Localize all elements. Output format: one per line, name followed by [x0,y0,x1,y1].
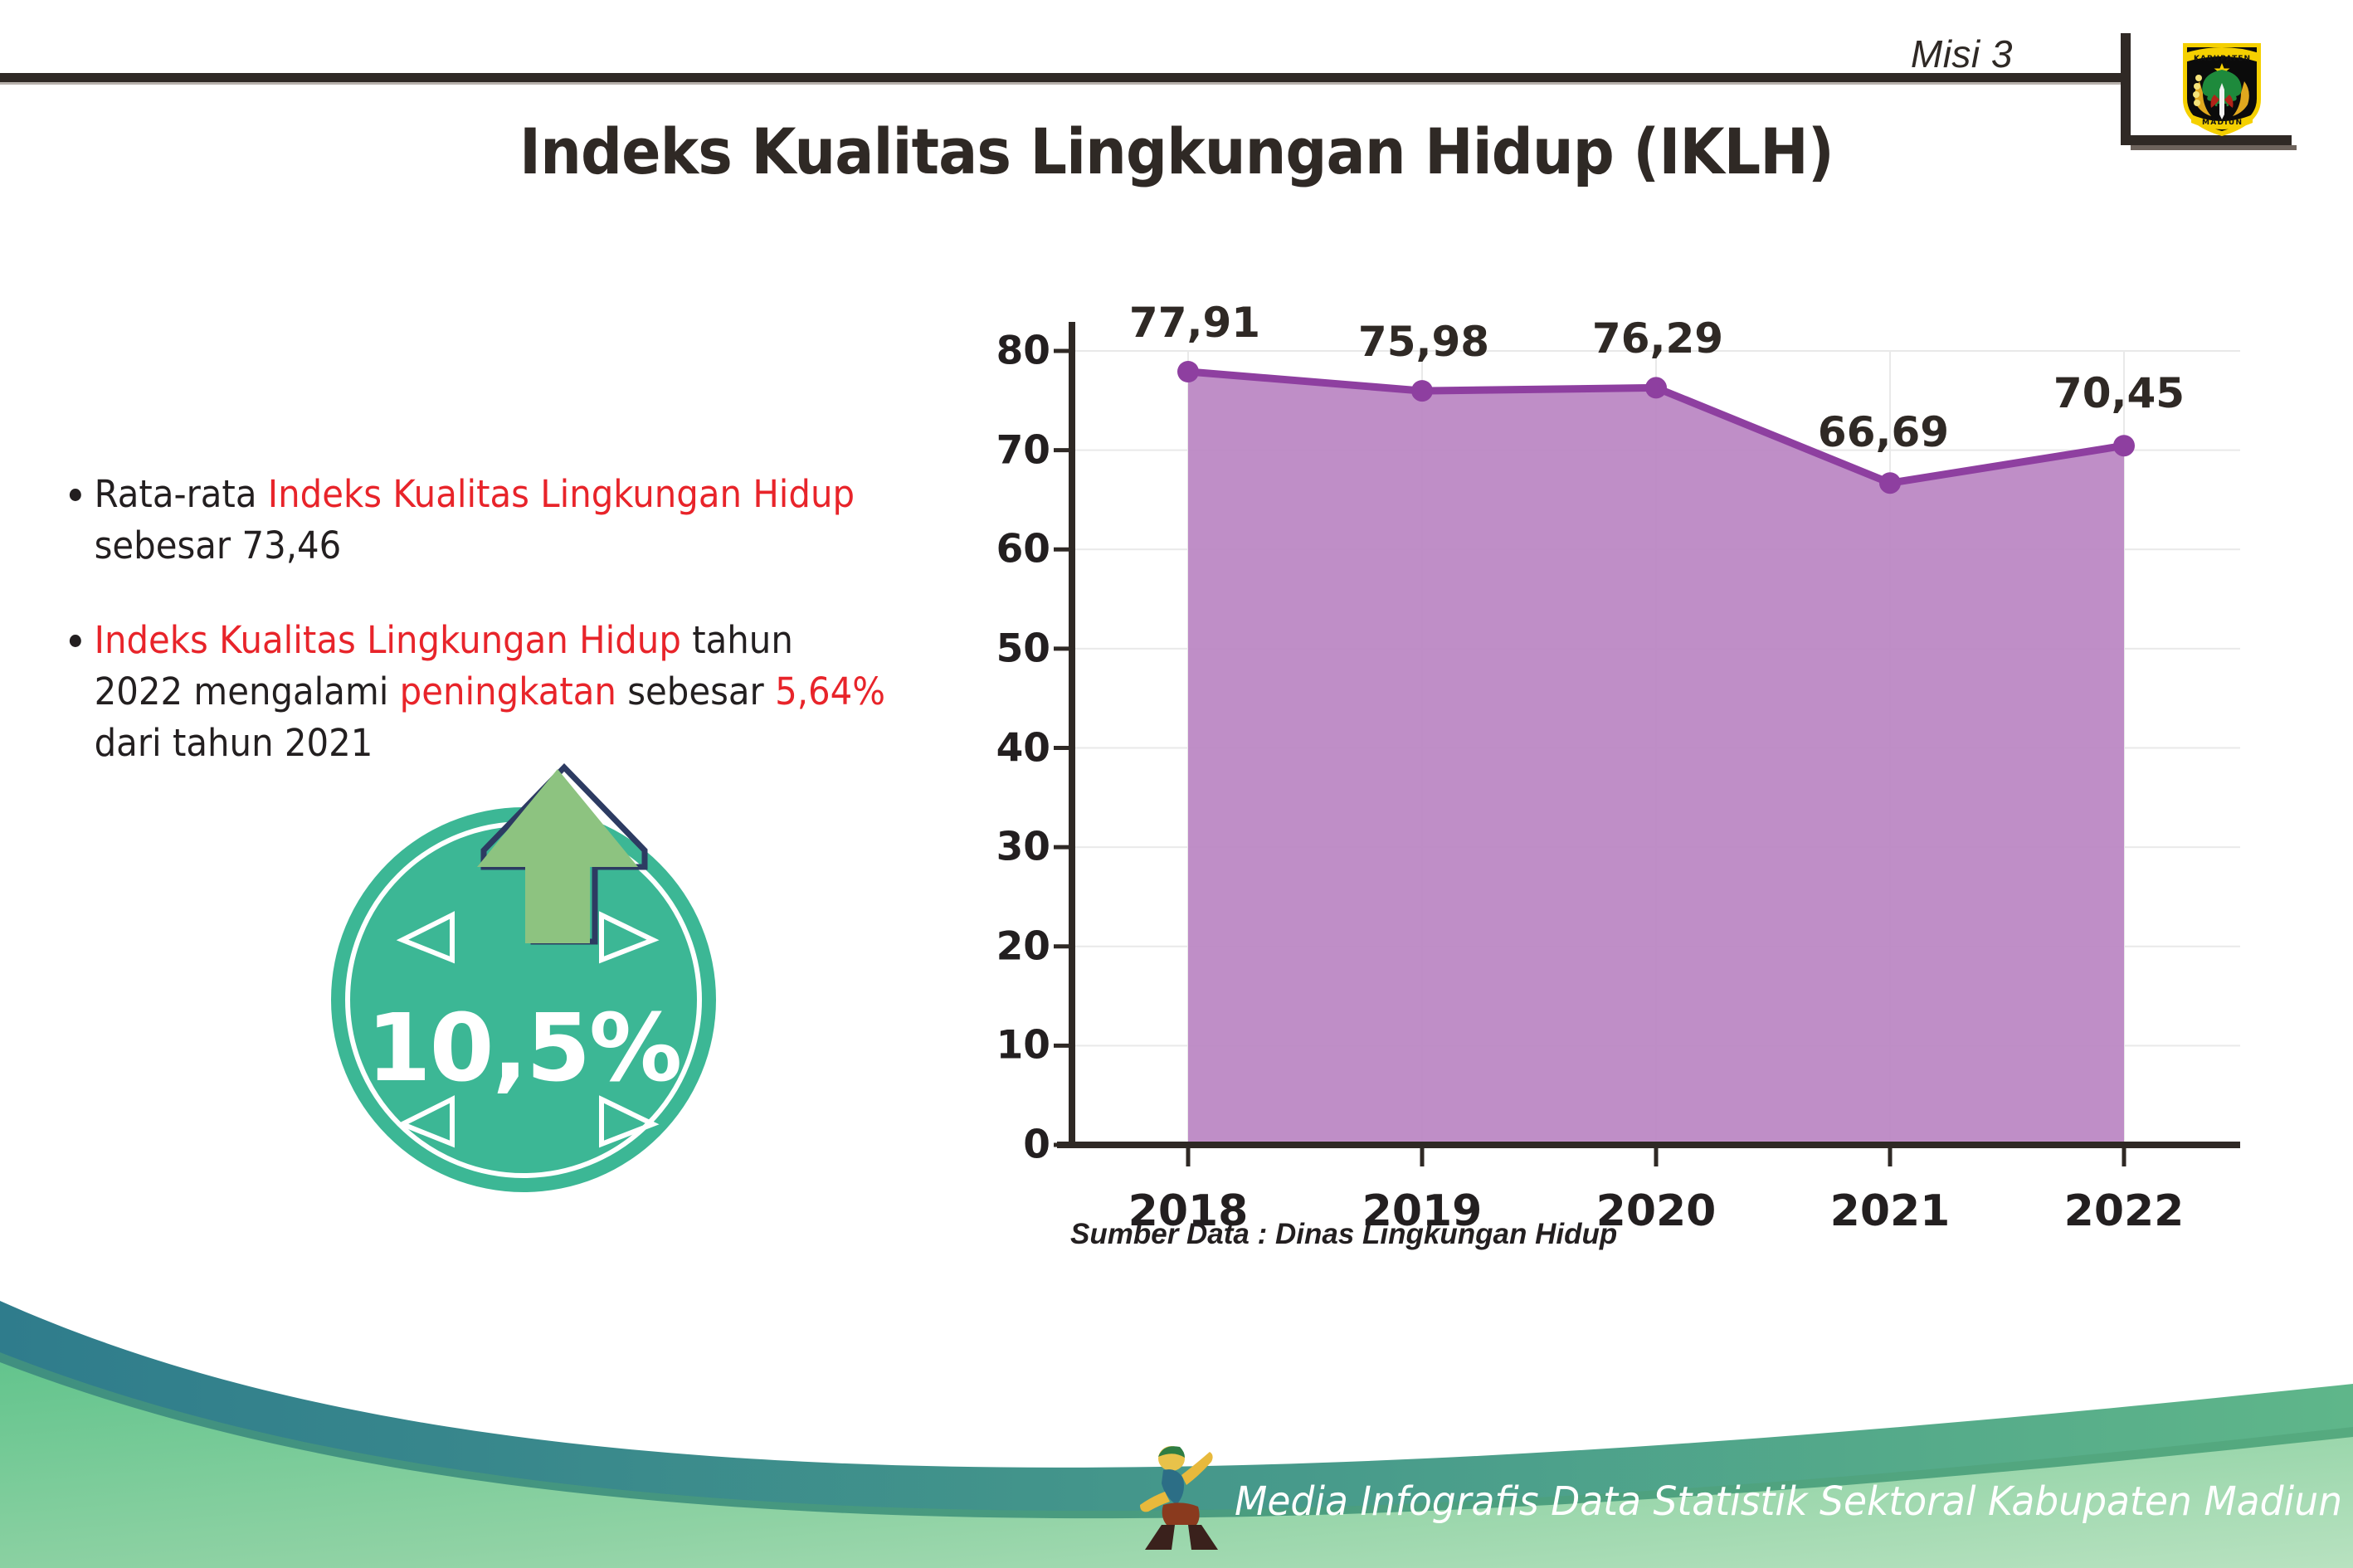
chart-source-note: Sumber Data : Dinas Lingkungan Hidup [1070,1218,1617,1251]
badge-value-text: 10,5% [328,995,719,1103]
chart-series [1177,361,2135,1145]
data-point-label: 75,98 [1358,318,1489,366]
y-axis-tick-label: 40 [959,725,1050,771]
footer-caption: Media Infografis Data Statistik Sektoral… [1235,1478,2353,1525]
data-point-label: 76,29 [1592,314,1723,363]
y-axis-tick-label: 30 [959,825,1050,870]
dancer-figure-icon [1138,1442,1225,1551]
bullet-highlight-text: 5,64% [775,670,885,713]
area-fill [1188,372,2124,1145]
data-point-marker [1177,361,1199,382]
mission-label: Misi 3 [1911,32,2013,76]
svg-text:KABUPATEN: KABUPATEN [2194,55,2250,63]
y-axis-tick-label: 20 [959,923,1050,969]
y-axis-tick-label: 60 [959,527,1050,572]
y-axis-tick-label: 50 [959,626,1050,671]
bullet-dot-icon [70,489,81,501]
page-title: Indeks Kualitas Lingkungan Hidup (IKLH) [94,114,2258,188]
bullet-text: sebesar [616,670,775,713]
growth-badge: 10,5% [328,751,743,1199]
data-point-marker [2113,435,2135,456]
chart-plot-area [954,307,2298,1286]
bullet-text: sebesar 73,46 [95,523,342,567]
bullet-highlight-text: peningkatan [400,670,616,713]
y-axis-tick-label: 10 [959,1023,1050,1069]
data-point-marker [1411,380,1433,402]
bullet-item: Rata-rata Indeks Kualitas Lingkungan Hid… [68,469,886,572]
data-point-label: 70,45 [2053,369,2185,417]
data-point-label: 77,91 [1129,299,1260,347]
x-axis-tick-label: 2022 [2064,1186,2185,1236]
data-point-marker [1645,377,1667,398]
data-point-marker [1879,472,1901,494]
infographic-slide: Misi 3 KABUPATEN MADIUN Indeks Kualitas … [0,0,2353,1568]
bullet-dot-icon [70,635,81,647]
iklh-area-chart: 01020304050607080 20182019202020212022 7… [954,307,2298,1286]
bullet-highlight-text: Indeks Kualitas Lingkungan Hidup [95,618,681,662]
y-axis-tick-label: 80 [959,329,1050,374]
badge-graphic [328,751,743,1199]
x-axis-tick-label: 2021 [1830,1186,1951,1236]
bullet-item: Indeks Kualitas Lingkungan Hidup tahun 2… [68,615,886,769]
bullet-text: Rata-rata [95,472,268,516]
y-axis-tick-label: 70 [959,427,1050,473]
header-divider-rule [0,73,2126,82]
data-point-label: 66,69 [1818,408,1949,456]
y-axis-tick-label: 0 [959,1122,1050,1168]
bullet-highlight-text: Indeks Kualitas Lingkungan Hidup [268,472,855,516]
